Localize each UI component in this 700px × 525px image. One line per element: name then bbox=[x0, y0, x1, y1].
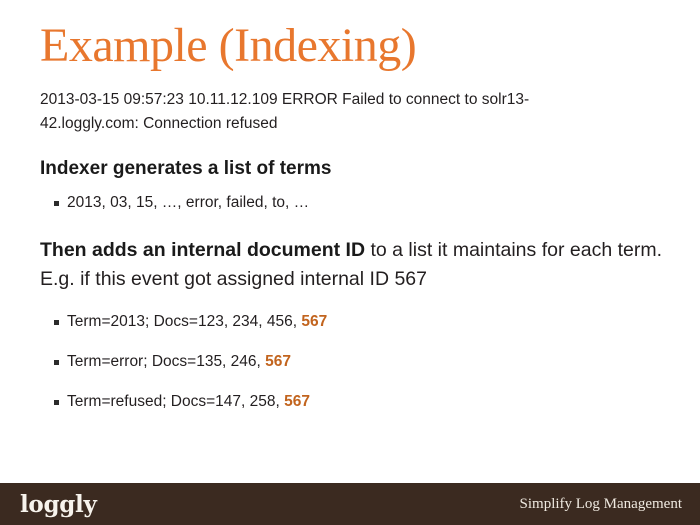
log-sample-text: 2013-03-15 09:57:23 10.11.12.109 ERROR F… bbox=[40, 88, 530, 135]
term-entry-label: Term=refused; Docs=147, 258, bbox=[67, 393, 284, 410]
footer-tagline: Simplify Log Management bbox=[520, 497, 682, 512]
section-two-paragraph-bold: Then adds an internal document ID bbox=[40, 239, 365, 261]
square-bullet-icon bbox=[54, 320, 59, 325]
section-two-bullet-list: Term=2013; Docs=123, 234, 456, 567 Term=… bbox=[40, 312, 680, 413]
term-entry-label: Term=2013; Docs=123, 234, 456, bbox=[67, 313, 301, 330]
table-row: Term=refused; Docs=147, 258, 567 bbox=[40, 392, 680, 413]
term-entry-label: Term=error; Docs=135, 246, bbox=[67, 353, 265, 370]
table-row: Term=2013; Docs=123, 234, 456, 567 bbox=[40, 312, 680, 333]
square-bullet-icon bbox=[54, 360, 59, 365]
page-title: Example (Indexing) bbox=[40, 0, 680, 70]
section-one-bullet-list: 2013, 03, 15, …, error, failed, to, … bbox=[40, 193, 680, 214]
doc-id-highlight: 567 bbox=[284, 393, 310, 410]
section-two-paragraph: Then adds an internal document ID to a l… bbox=[40, 236, 670, 295]
slide-content: Example (Indexing) 2013-03-15 09:57:23 1… bbox=[40, 0, 680, 432]
list-item: 2013, 03, 15, …, error, failed, to, … bbox=[40, 193, 680, 214]
square-bullet-icon bbox=[54, 201, 59, 206]
loggly-logo: loggly bbox=[20, 493, 97, 516]
slide: Example (Indexing) 2013-03-15 09:57:23 1… bbox=[0, 0, 700, 525]
table-row: Term=error; Docs=135, 246, 567 bbox=[40, 352, 680, 373]
doc-id-highlight: 567 bbox=[265, 353, 291, 370]
section-one-heading: Indexer generates a list of terms bbox=[40, 157, 680, 182]
slide-footer: loggly Simplify Log Management bbox=[0, 483, 700, 525]
list-item-label: 2013, 03, 15, …, error, failed, to, … bbox=[67, 194, 309, 211]
square-bullet-icon bbox=[54, 400, 59, 405]
doc-id-highlight: 567 bbox=[301, 313, 327, 330]
